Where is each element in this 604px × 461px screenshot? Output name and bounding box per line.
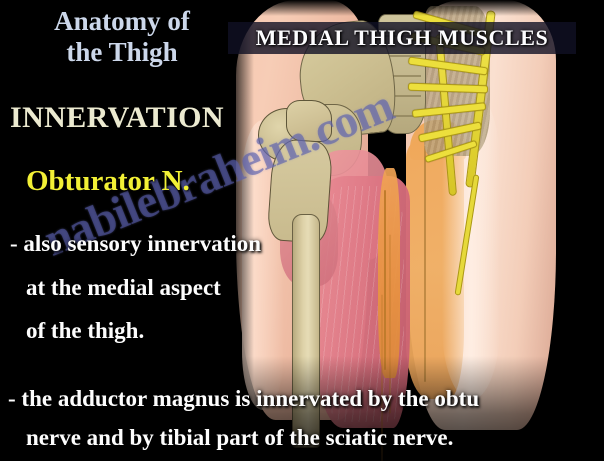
- bullet-line-2: at the medial aspect: [26, 275, 221, 301]
- bullet-line-3: of the thigh.: [26, 318, 144, 344]
- art-right-vignette: [574, 0, 604, 461]
- nerve-root-l3: [408, 56, 488, 75]
- bullet-line-1: - also sensory innervation: [10, 231, 261, 257]
- femoral-shaft-bone: [292, 214, 320, 448]
- nerve-heading: Obturator N.: [26, 165, 190, 198]
- banner-label: MEDIAL THIGH MUSCLES: [256, 25, 549, 51]
- banner: MEDIAL THIGH MUSCLES: [228, 22, 576, 54]
- slide-canvas: nabilebraheim.com MEDIAL THIGH MUSCLES A…: [0, 0, 604, 461]
- bullet-line-5: nerve and by tibial part of the sciatic …: [26, 425, 453, 451]
- nerve-root-l4: [408, 83, 488, 94]
- adductor-highlight-band: [378, 168, 400, 378]
- greater-trochanter-bone: [286, 100, 332, 142]
- bullet-line-4: - the adductor magnus is innervated by t…: [8, 386, 479, 412]
- section-heading: INNERVATION: [10, 101, 224, 135]
- page-title: Anatomy of the Thigh: [22, 6, 222, 69]
- page-title-line-1: Anatomy of: [22, 6, 222, 37]
- page-title-line-2: the Thigh: [22, 37, 222, 68]
